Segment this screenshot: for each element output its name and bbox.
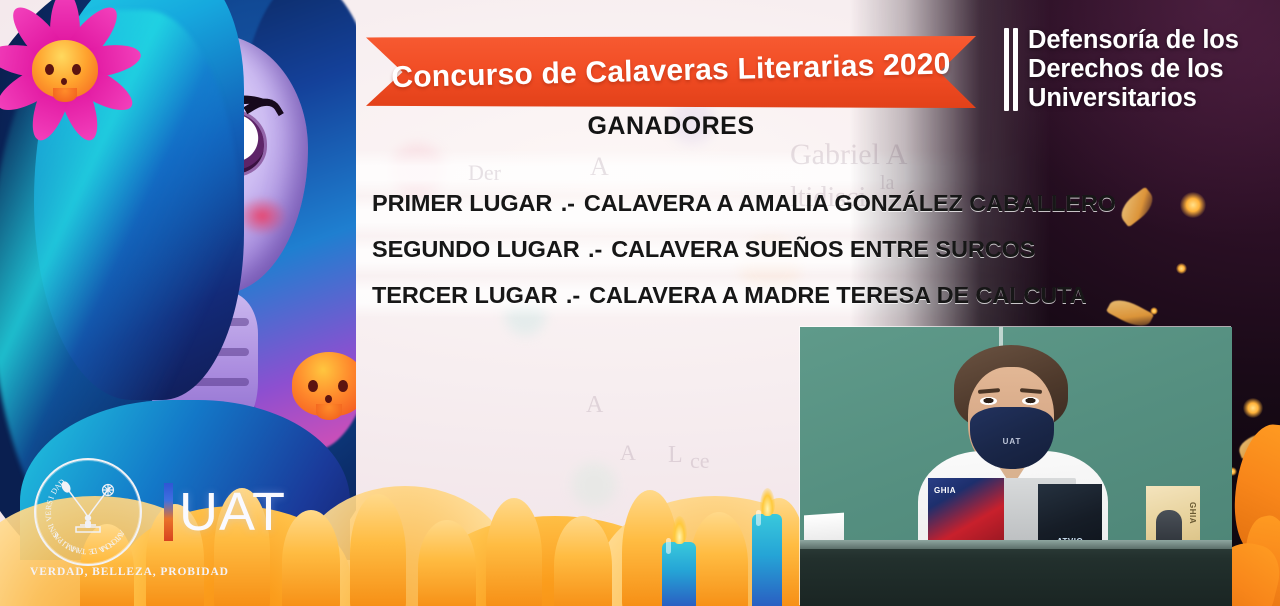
- winners-list: PRIMER LUGAR .-CALAVERA A AMALIA GONZÁLE…: [372, 190, 1102, 328]
- winner-row: PRIMER LUGAR .-CALAVERA A AMALIA GONZÁLE…: [372, 190, 1102, 217]
- uat-logo-block: UNIVERSIDADAVTONOMA DE TAMAVLIPAS: [34, 458, 286, 566]
- wordmark-line-3: Universitarios: [1028, 84, 1239, 113]
- wordmark-line-1: Defensoría de los: [1028, 26, 1239, 55]
- broadcast-overlay-screen: Gabriel AlaltidisciAAALceDer: [0, 0, 1280, 606]
- winner-place: PRIMER LUGAR: [372, 190, 559, 216]
- prize-box-label: GHIA: [1188, 502, 1197, 524]
- defensoria-wordmark: Defensoría de los Derechos de los Univer…: [1004, 26, 1239, 113]
- winner-separator: .-: [564, 282, 582, 308]
- mask-logo-text: UAT: [970, 437, 1054, 446]
- prize-box-label: GHIA: [934, 486, 956, 495]
- uat-motto: VERDAD, BELLEZA, PROBIDAD: [30, 566, 229, 578]
- ribbon-banner: Concurso de Calaveras Literarias 2020: [366, 36, 976, 108]
- winner-place: TERCER LUGAR: [372, 282, 564, 308]
- uat-wordmark: UAT: [164, 483, 286, 541]
- winner-separator: .-: [559, 190, 577, 216]
- winner-separator: .-: [586, 236, 604, 262]
- winner-title: CALAVERA A AMALIA GONZÁLEZ CABALLERO: [577, 190, 1116, 216]
- winner-title: CALAVERA A MADRE TERESA DE CALCUTA: [582, 282, 1087, 308]
- video-feed-inset[interactable]: UAT GHIA ATVIO GHIA: [800, 327, 1232, 606]
- double-bar-icon: [1004, 26, 1018, 113]
- winner-title: CALAVERA SUEÑOS ENTRE SURCOS: [604, 236, 1035, 262]
- presentation-table: [800, 540, 1232, 606]
- uat-acronym: UAT: [179, 485, 286, 539]
- uat-seal-emblem-icon: [56, 481, 120, 543]
- orange-sugar-skull-icon: [292, 352, 356, 416]
- uat-accent-bar-icon: [164, 483, 173, 541]
- wordmark-line-2: Derechos de los: [1028, 55, 1239, 84]
- winner-row: TERCER LUGAR .-CALAVERA A MADRE TERESA D…: [372, 282, 1102, 309]
- uat-seal-icon: UNIVERSIDADAVTONOMA DE TAMAVLIPAS: [34, 458, 142, 566]
- pink-flower-with-skull-icon: [0, 0, 154, 154]
- banner-subtitle: GANADORES: [366, 112, 976, 141]
- winner-row: SEGUNDO LUGAR .-CALAVERA SUEÑOS ENTRE SU…: [372, 236, 1102, 263]
- defensoria-wordmark-text: Defensoría de los Derechos de los Univer…: [1028, 26, 1239, 113]
- winner-place: SEGUNDO LUGAR: [372, 236, 586, 262]
- skull-center-icon: [32, 40, 98, 98]
